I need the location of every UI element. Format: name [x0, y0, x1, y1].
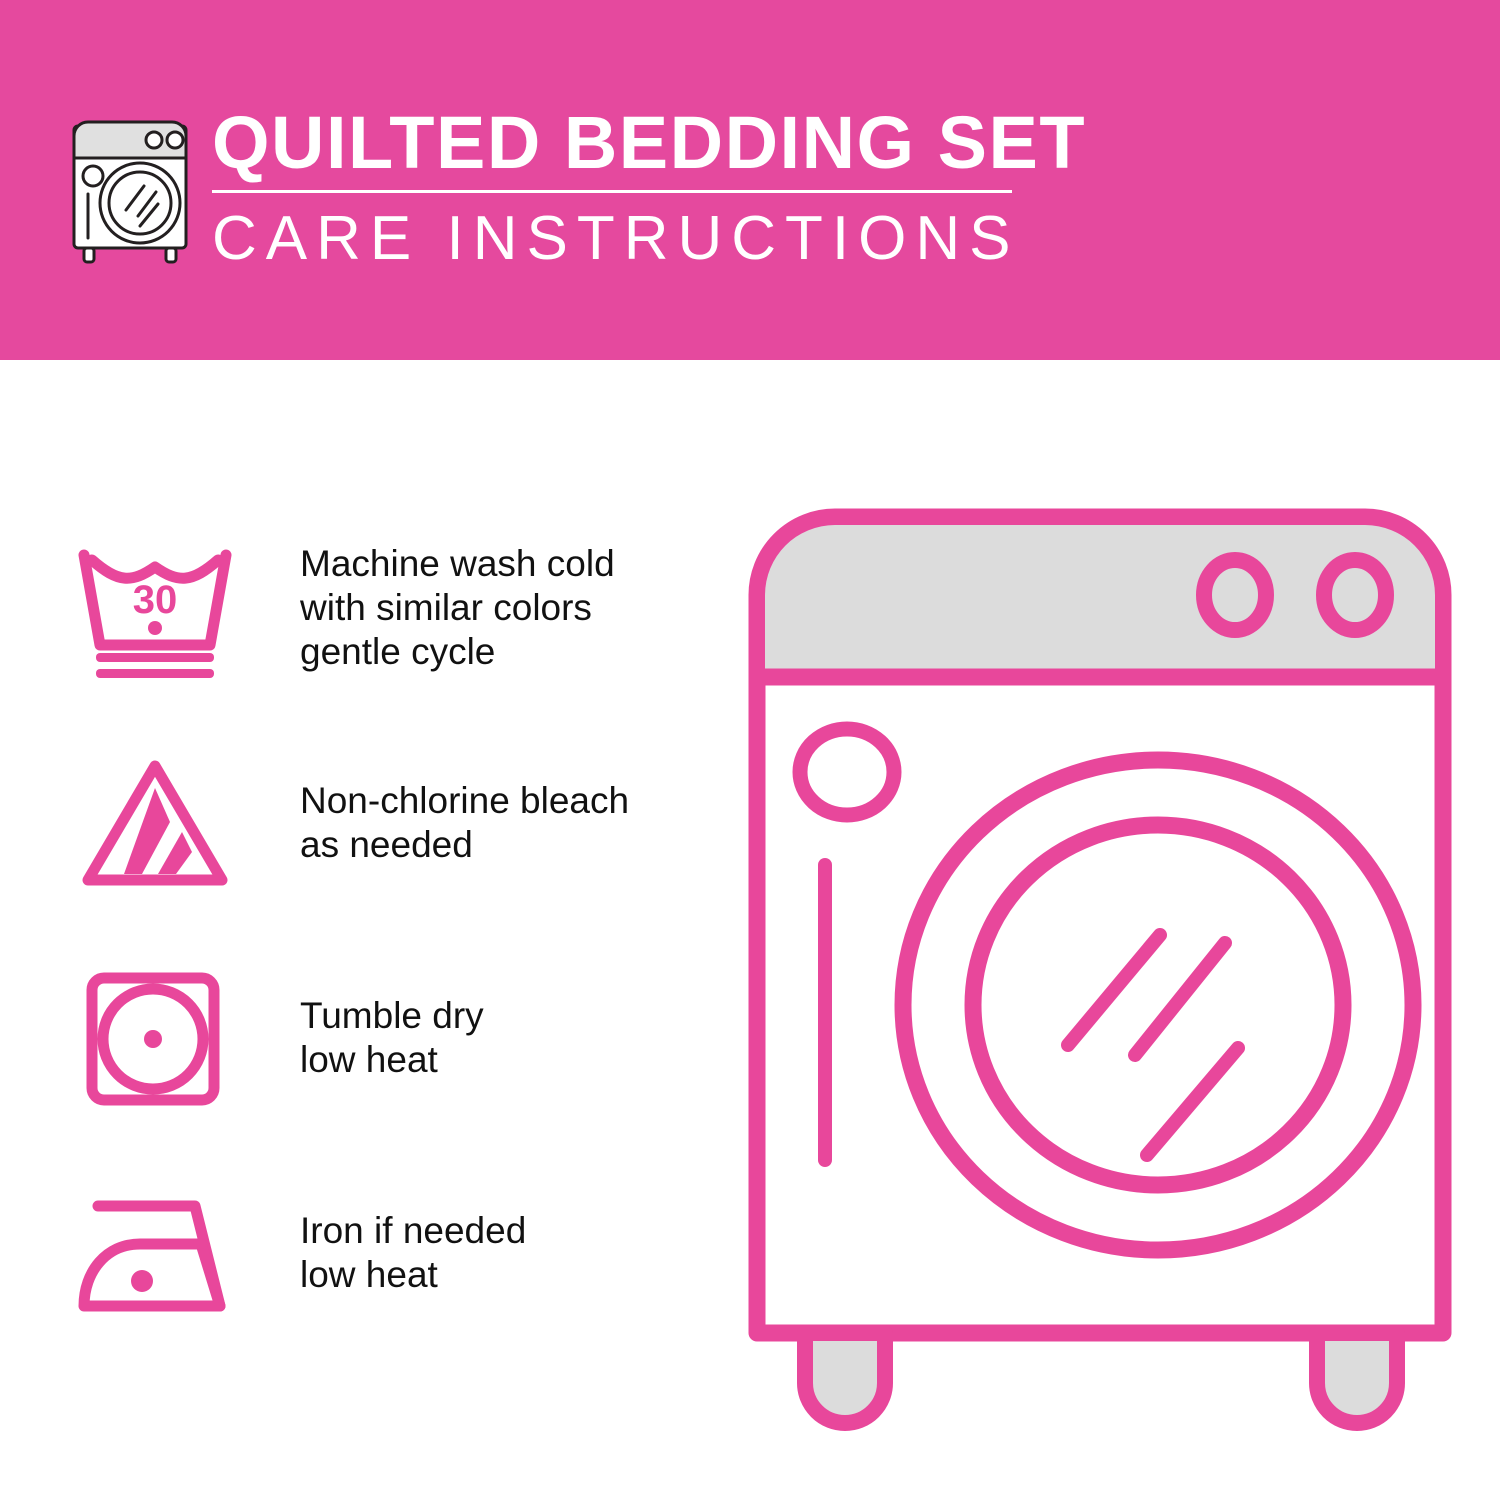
instruction-row-machine-wash: 30 Machine wash cold with similar colors… — [70, 500, 710, 715]
machine-leg-right — [1317, 1333, 1397, 1423]
instruction-label-machine-wash: Machine wash cold with similar colors ge… — [250, 542, 615, 674]
instruction-row-bleach: Non-chlorine bleach as needed — [70, 715, 710, 930]
instruction-line-2: low heat — [300, 1253, 526, 1297]
instruction-label-tumble-dry: Tumble dry low heat — [250, 994, 484, 1082]
care-instructions-list: 30 Machine wash cold with similar colors… — [70, 500, 710, 1360]
instruction-line-2: with similar colors — [300, 586, 615, 630]
instruction-line-2: low heat — [300, 1038, 484, 1082]
instruction-label-iron: Iron if needed low heat — [250, 1209, 526, 1297]
instruction-label-bleach: Non-chlorine bleach as needed — [250, 779, 629, 867]
bleach-triangle-icon — [70, 743, 250, 903]
title-divider-rule — [212, 190, 1012, 193]
header-washing-machine-logo-icon — [62, 104, 198, 264]
instruction-line-2: as needed — [300, 823, 629, 867]
washing-machine-illustration — [735, 495, 1465, 1435]
instruction-line-1: Machine wash cold — [300, 542, 615, 586]
instruction-row-iron: Iron if needed low heat — [70, 1145, 710, 1360]
machine-leg-left — [805, 1333, 885, 1423]
tumble-dry-icon — [70, 958, 250, 1118]
instruction-line-1: Tumble dry — [300, 994, 484, 1038]
control-panel — [765, 525, 1435, 677]
header-banner: QUILTED BEDDING SET CARE INSTRUCTIONS — [0, 0, 1500, 360]
page-title: QUILTED BEDDING SET — [212, 100, 1032, 186]
instruction-row-tumble-dry: Tumble dry low heat — [70, 930, 710, 1145]
page-subtitle: CARE INSTRUCTIONS — [212, 203, 1032, 275]
header-title-block: QUILTED BEDDING SET CARE INSTRUCTIONS — [212, 100, 1032, 275]
wash-basin-icon: 30 — [70, 528, 250, 688]
wash-temperature-value: 30 — [133, 578, 178, 622]
instruction-line-1: Iron if needed — [300, 1209, 526, 1253]
iron-icon — [70, 1173, 250, 1333]
instruction-line-1: Non-chlorine bleach — [300, 779, 629, 823]
instruction-line-3: gentle cycle — [300, 630, 615, 674]
